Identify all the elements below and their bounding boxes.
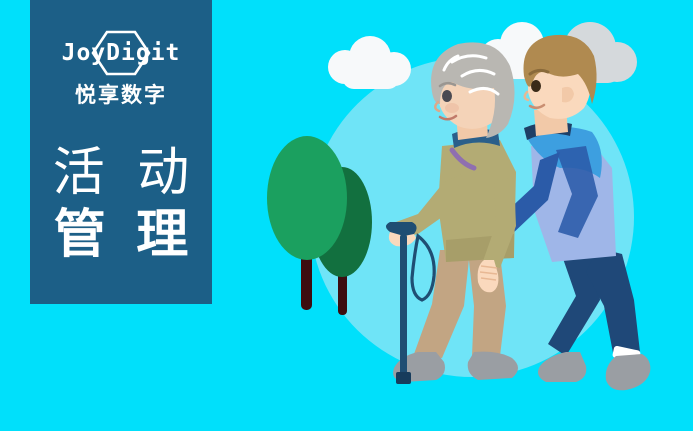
woman-cheek: [445, 103, 459, 113]
brand-logo: JoyDigit: [46, 30, 196, 76]
page-title-line-2: 管 理: [30, 204, 212, 266]
brand-chinese-name: 悦享数字: [75, 84, 167, 108]
poster-canvas: JoyDigit 悦享数字 活 动 管 理: [0, 0, 693, 431]
title-panel: JoyDigit 悦享数字 活 动 管 理: [30, 0, 212, 304]
page-title: 活 动 管 理: [30, 142, 212, 266]
page-title-line-1: 活 动: [30, 142, 212, 204]
woman-eye: [442, 90, 452, 102]
logo-wordmark: JoyDigit: [46, 40, 196, 66]
woman-hand-side: [478, 260, 499, 292]
man-eye: [531, 80, 541, 92]
cane-tip: [396, 372, 411, 384]
cane-shaft: [400, 234, 407, 378]
